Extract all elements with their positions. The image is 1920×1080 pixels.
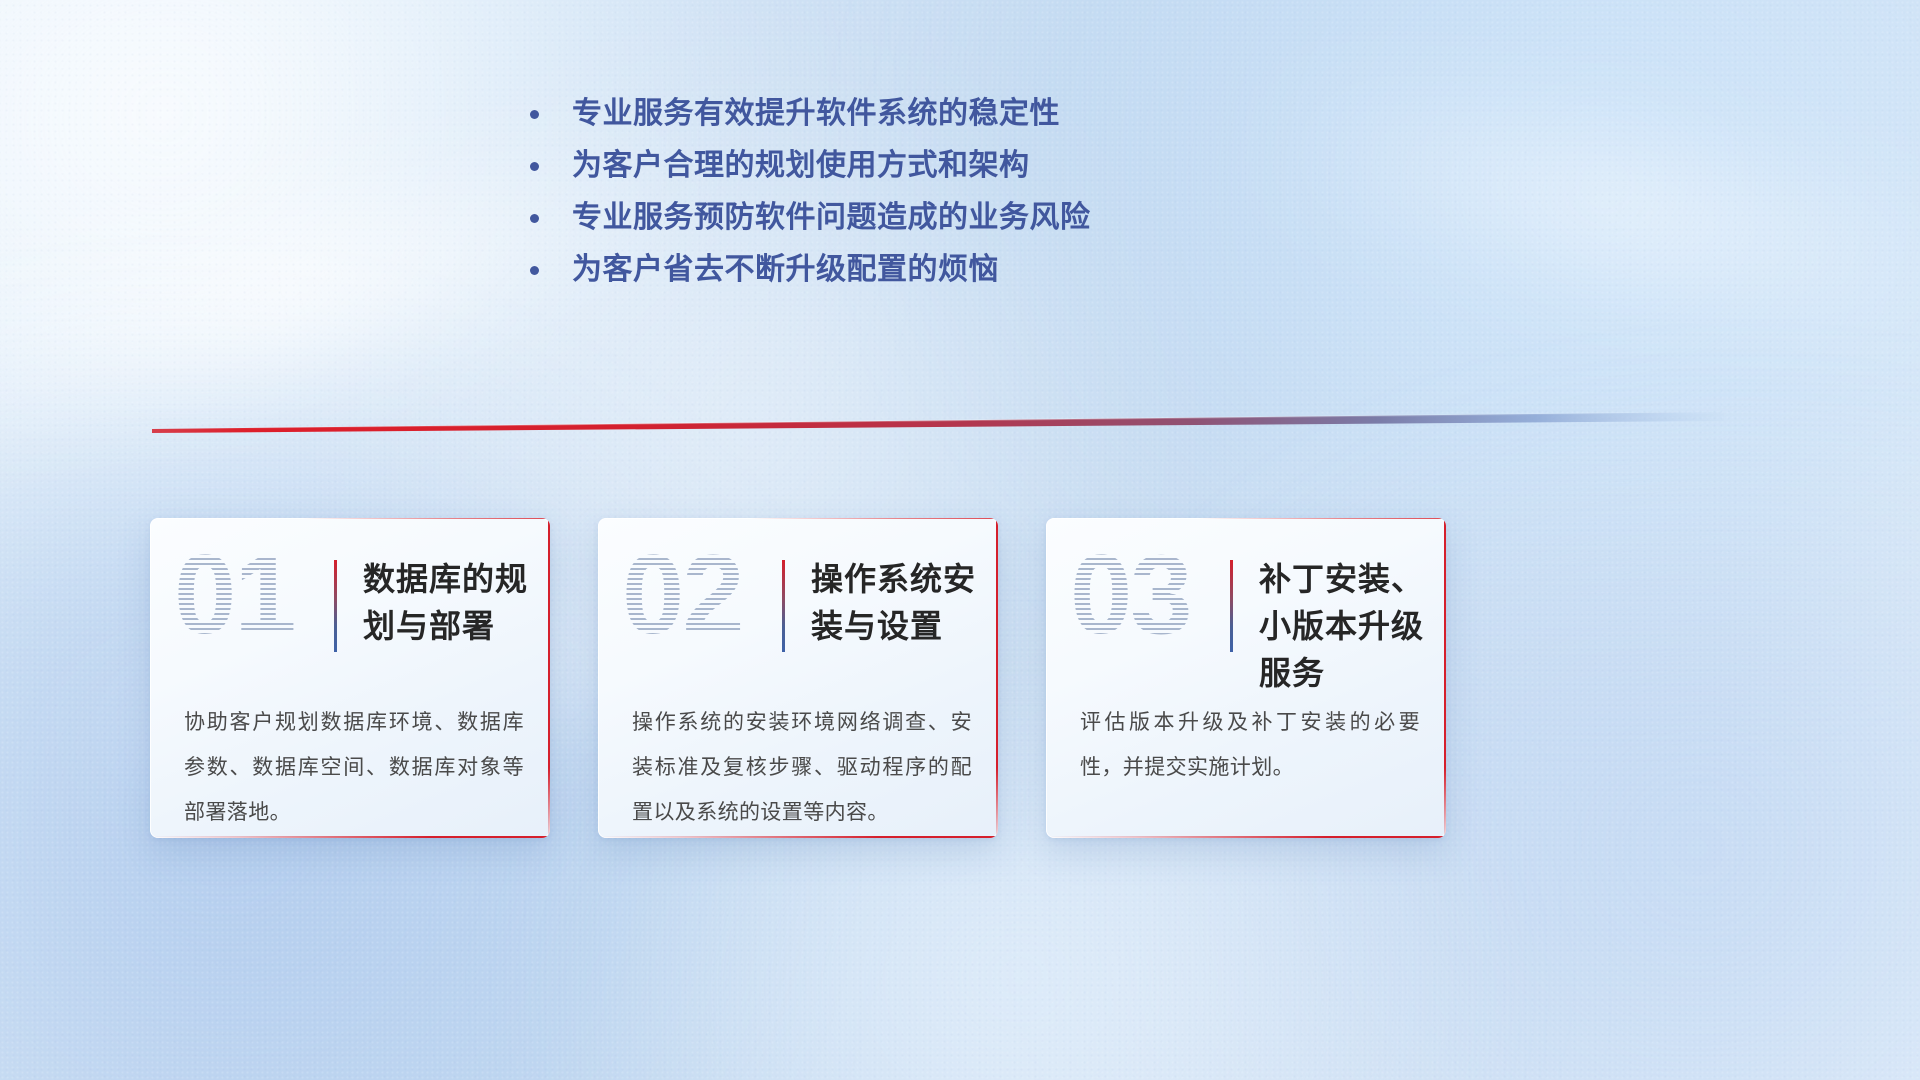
bullet-dot-icon <box>530 110 539 119</box>
list-item: 为客户省去不断升级配置的烦恼 <box>530 244 1390 296</box>
card-number-label: 01 <box>174 540 344 650</box>
card-header: 数据库的规划与部署 <box>334 556 550 652</box>
bullet-label: 为客户合理的规划使用方式和架构 <box>572 140 1030 192</box>
bullet-label: 为客户省去不断升级配置的烦恼 <box>572 244 999 296</box>
card-right-accent <box>1444 518 1446 838</box>
card-description: 协助客户规划数据库环境、数据库参数、数据库空间、数据库对象等部署落地。 <box>184 700 524 835</box>
list-item: 专业服务有效提升软件系统的稳定性 <box>530 88 1390 140</box>
card-accent-bar <box>782 560 785 652</box>
service-card[interactable]: 02 操作系统安装与设置 操作系统的安装环境网络调查、安装标准及复核步骤、驱动程… <box>598 518 998 838</box>
service-cards-row: 01 数据库的规划与部署 协助客户规划数据库环境、数据库参数、数据库空间、数据库… <box>150 518 1770 838</box>
card-top-accent <box>750 518 998 519</box>
card-title: 数据库的规划与部署 <box>363 556 550 650</box>
service-card[interactable]: 03 补丁安装、小版本升级服务 评估版本升级及补丁安装的必要性，并提交实施计划。 <box>1046 518 1446 838</box>
card-number-label: 02 <box>622 540 792 650</box>
card-right-accent <box>996 518 998 838</box>
benefits-bullet-list: 专业服务有效提升软件系统的稳定性 为客户合理的规划使用方式和架构 专业服务预防软… <box>530 88 1390 296</box>
tapered-wedge-icon <box>152 406 1724 436</box>
card-accent-bar <box>1230 560 1233 652</box>
card-bottom-accent <box>1046 836 1446 838</box>
card-right-accent <box>548 518 550 838</box>
card-title: 补丁安装、小版本升级服务 <box>1259 556 1446 697</box>
card-ghost-number: 03 <box>1070 540 1240 650</box>
card-number-label: 03 <box>1070 540 1240 650</box>
card-description: 评估版本升级及补丁安装的必要性，并提交实施计划。 <box>1080 700 1420 790</box>
list-item: 为客户合理的规划使用方式和架构 <box>530 140 1390 192</box>
card-bottom-accent <box>150 836 550 838</box>
section-divider <box>152 406 1724 436</box>
bullet-label: 专业服务预防软件问题造成的业务风险 <box>572 192 1091 244</box>
card-title: 操作系统安装与设置 <box>811 556 998 650</box>
card-description: 操作系统的安装环境网络调查、安装标准及复核步骤、驱动程序的配置以及系统的设置等内… <box>632 700 972 835</box>
card-top-accent <box>302 518 550 519</box>
card-ghost-number: 02 <box>622 540 792 650</box>
bullet-dot-icon <box>530 214 539 223</box>
bullet-label: 专业服务有效提升软件系统的稳定性 <box>572 88 1060 140</box>
card-header: 操作系统安装与设置 <box>782 556 998 652</box>
service-card[interactable]: 01 数据库的规划与部署 协助客户规划数据库环境、数据库参数、数据库空间、数据库… <box>150 518 550 838</box>
card-header: 补丁安装、小版本升级服务 <box>1230 556 1446 697</box>
card-bottom-accent <box>598 836 998 838</box>
bullet-dot-icon <box>530 162 539 171</box>
bullet-dot-icon <box>530 266 539 275</box>
card-accent-bar <box>334 560 337 652</box>
card-top-accent <box>1198 518 1446 519</box>
card-ghost-number: 01 <box>174 540 344 650</box>
list-item: 专业服务预防软件问题造成的业务风险 <box>530 192 1390 244</box>
